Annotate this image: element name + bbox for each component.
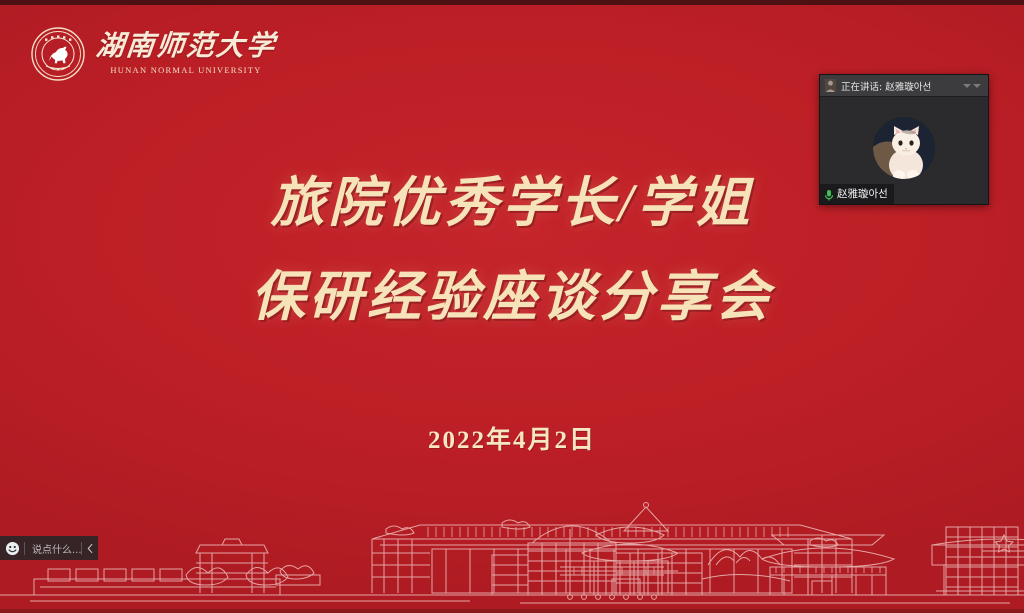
university-name-cn: 湖南师范大学 [95,33,278,61]
video-participant-panel[interactable]: 正在讲话: 赵雅璇아선 [819,74,989,205]
participant-name: 赵雅璇아선 [837,186,888,201]
participant-name-bar: 赵雅璇아선 [820,184,894,204]
slide-date: 2022年4月2日 [0,420,1024,456]
chevron-left-icon[interactable] [82,536,98,560]
microphone-icon [824,188,834,200]
window-controls-icon[interactable] [961,79,983,93]
university-logo: 湖南师范大学 HUNAN NORMAL UNIVERSITY [30,26,276,82]
cat-avatar-image [873,117,935,179]
video-panel-header[interactable]: 正在讲话: 赵雅璇아선 [820,75,988,97]
campus-skyline-illustration [0,483,1024,613]
video-panel-body[interactable]: 赵雅璇아선 [820,97,988,204]
university-wordmark: 湖南师范大学 HUNAN NORMAL UNIVERSITY [96,33,276,75]
chat-input[interactable]: 说点什么... [25,536,81,560]
speaker-avatar-icon [825,79,836,92]
title-line-2: 保研经验座谈分享会 [0,270,1024,324]
university-name-en: HUNAN NORMAL UNIVERSITY [110,66,261,75]
presentation-screen: 湖南师范大学 HUNAN NORMAL UNIVERSITY 旅院优秀学长/学姐… [0,0,1024,613]
speaking-status-text: 正在讲话: 赵雅璇아선 [841,79,931,93]
screen-edge-top [0,0,1024,5]
screen-edge-bottom [0,609,1024,613]
chat-input-bar[interactable]: 说点什么... [0,536,98,560]
emoji-smiley-icon[interactable] [0,536,24,560]
university-seal-icon [30,26,86,82]
